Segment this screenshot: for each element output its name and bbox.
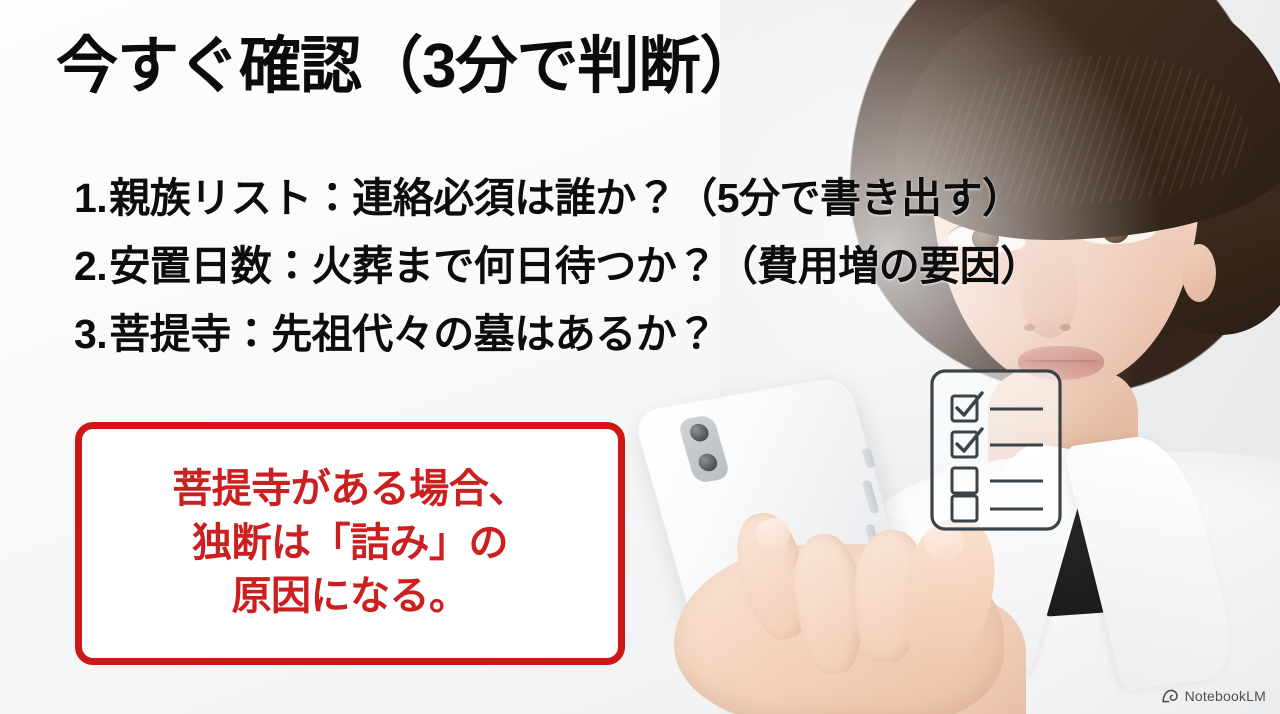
warning-callout-box: 菩提寺がある場合、 独断は「詰み」の 原因になる。 bbox=[75, 422, 625, 665]
callout-line: 原因になる。 bbox=[232, 570, 469, 624]
checklist-bullets: 1. 親族リスト：連絡必須は誰か？（5分で書き出す） 2. 安置日数：火葬まで何… bbox=[74, 178, 1254, 382]
list-item: 1. 親族リスト：連絡必須は誰か？（5分で書き出す） bbox=[74, 178, 1254, 219]
checklist-icon bbox=[926, 366, 1068, 534]
list-item: 2. 安置日数：火葬まで何日待つか？（費用増の要因） bbox=[74, 246, 1254, 287]
list-item-label: 菩提寺：先祖代々の墓はあるか？ bbox=[109, 314, 717, 355]
list-item-number: 2. bbox=[74, 246, 107, 287]
notebooklm-watermark: NotebookLM bbox=[1162, 688, 1266, 704]
list-item-label: 安置日数：火葬まで何日待つか？（費用増の要因） bbox=[109, 246, 1041, 287]
list-item-number: 1. bbox=[74, 178, 107, 219]
list-item: 3. 菩提寺：先祖代々の墓はあるか？ bbox=[74, 314, 1254, 355]
notebooklm-spiral-icon bbox=[1162, 689, 1179, 703]
list-item-number: 3. bbox=[74, 314, 107, 355]
page-title: 今すぐ確認（3分で判断） bbox=[56, 36, 760, 98]
callout-line: 菩提寺がある場合、 bbox=[172, 463, 528, 517]
camera-lens-top bbox=[688, 422, 711, 442]
slide-canvas: 今すぐ確認（3分で判断） 1. 親族リスト：連絡必須は誰か？（5分で書き出す） … bbox=[0, 0, 1280, 714]
notebooklm-label: NotebookLM bbox=[1185, 688, 1266, 704]
list-item-label: 親族リスト：連絡必須は誰か？（5分で書き出す） bbox=[109, 178, 1022, 219]
camera-lens-bottom bbox=[696, 452, 719, 472]
callout-line: 独断は「詰み」の bbox=[192, 517, 508, 571]
